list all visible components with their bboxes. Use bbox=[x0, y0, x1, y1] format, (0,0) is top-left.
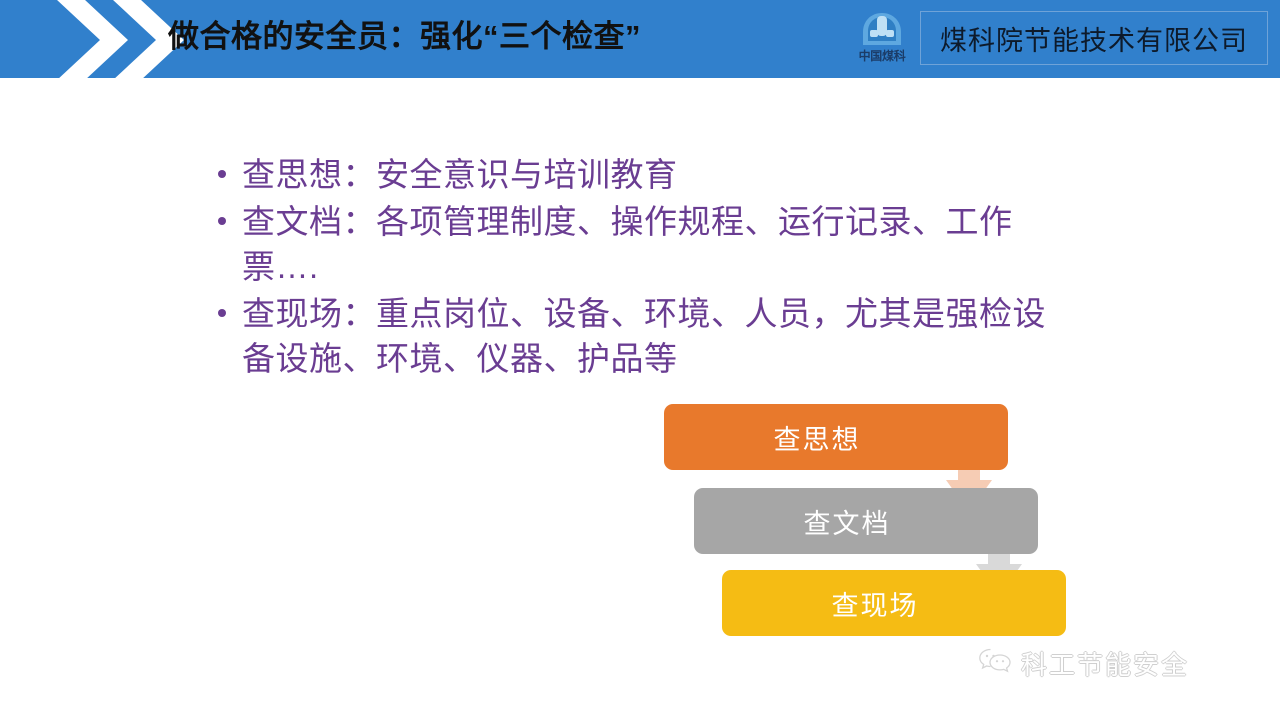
china-coal-technology-logo-icon bbox=[858, 11, 906, 49]
process-step-1: 查思想 bbox=[664, 404, 1008, 470]
process-step-label: 查思想 bbox=[664, 418, 1008, 457]
watermark: 科工节能安全 bbox=[978, 645, 1189, 682]
bullet-dot-icon bbox=[218, 309, 226, 317]
process-step-label: 查文档 bbox=[694, 502, 1038, 541]
process-diagram: 查思想 查文档 查现场 bbox=[640, 392, 1100, 642]
slide: 做合格的安全员：强化“三个检查” 中国煤科 煤科院节能技术有限公司 查思想：安全… bbox=[0, 0, 1280, 720]
company-logo: 中国煤科 bbox=[848, 11, 916, 69]
slide-header: 做合格的安全员：强化“三个检查” 中国煤科 煤科院节能技术有限公司 bbox=[0, 0, 1280, 78]
process-step-3: 查现场 bbox=[722, 570, 1066, 636]
logo-caption: 中国煤科 bbox=[848, 49, 916, 63]
list-item: 查思想：安全意识与培训教育 bbox=[212, 152, 1072, 197]
bullet-dot-icon bbox=[218, 217, 226, 225]
bullet-list: 查思想：安全意识与培训教育 查文档：各项管理制度、操作规程、运行记录、工作票….… bbox=[212, 152, 1072, 383]
list-item-text: 查现场：重点岗位、设备、环境、人员，尤其是强检设备设施、环境、仪器、护品等 bbox=[242, 295, 1046, 377]
list-item-text: 查文档：各项管理制度、操作规程、运行记录、工作票…. bbox=[242, 203, 1013, 285]
list-item: 查文档：各项管理制度、操作规程、运行记录、工作票…. bbox=[212, 199, 1072, 289]
wechat-icon bbox=[978, 647, 1012, 680]
company-name-box: 煤科院节能技术有限公司 bbox=[920, 11, 1268, 65]
company-name: 煤科院节能技术有限公司 bbox=[940, 19, 1248, 58]
process-step-label: 查现场 bbox=[722, 584, 1066, 623]
process-step-2: 查文档 bbox=[694, 488, 1038, 554]
list-item-text: 查思想：安全意识与培训教育 bbox=[242, 156, 678, 193]
page-title: 做合格的安全员：强化“三个检查” bbox=[168, 17, 641, 57]
list-item: 查现场：重点岗位、设备、环境、人员，尤其是强检设备设施、环境、仪器、护品等 bbox=[212, 291, 1072, 381]
watermark-text: 科工节能安全 bbox=[1021, 645, 1189, 682]
bullet-dot-icon bbox=[218, 170, 226, 178]
